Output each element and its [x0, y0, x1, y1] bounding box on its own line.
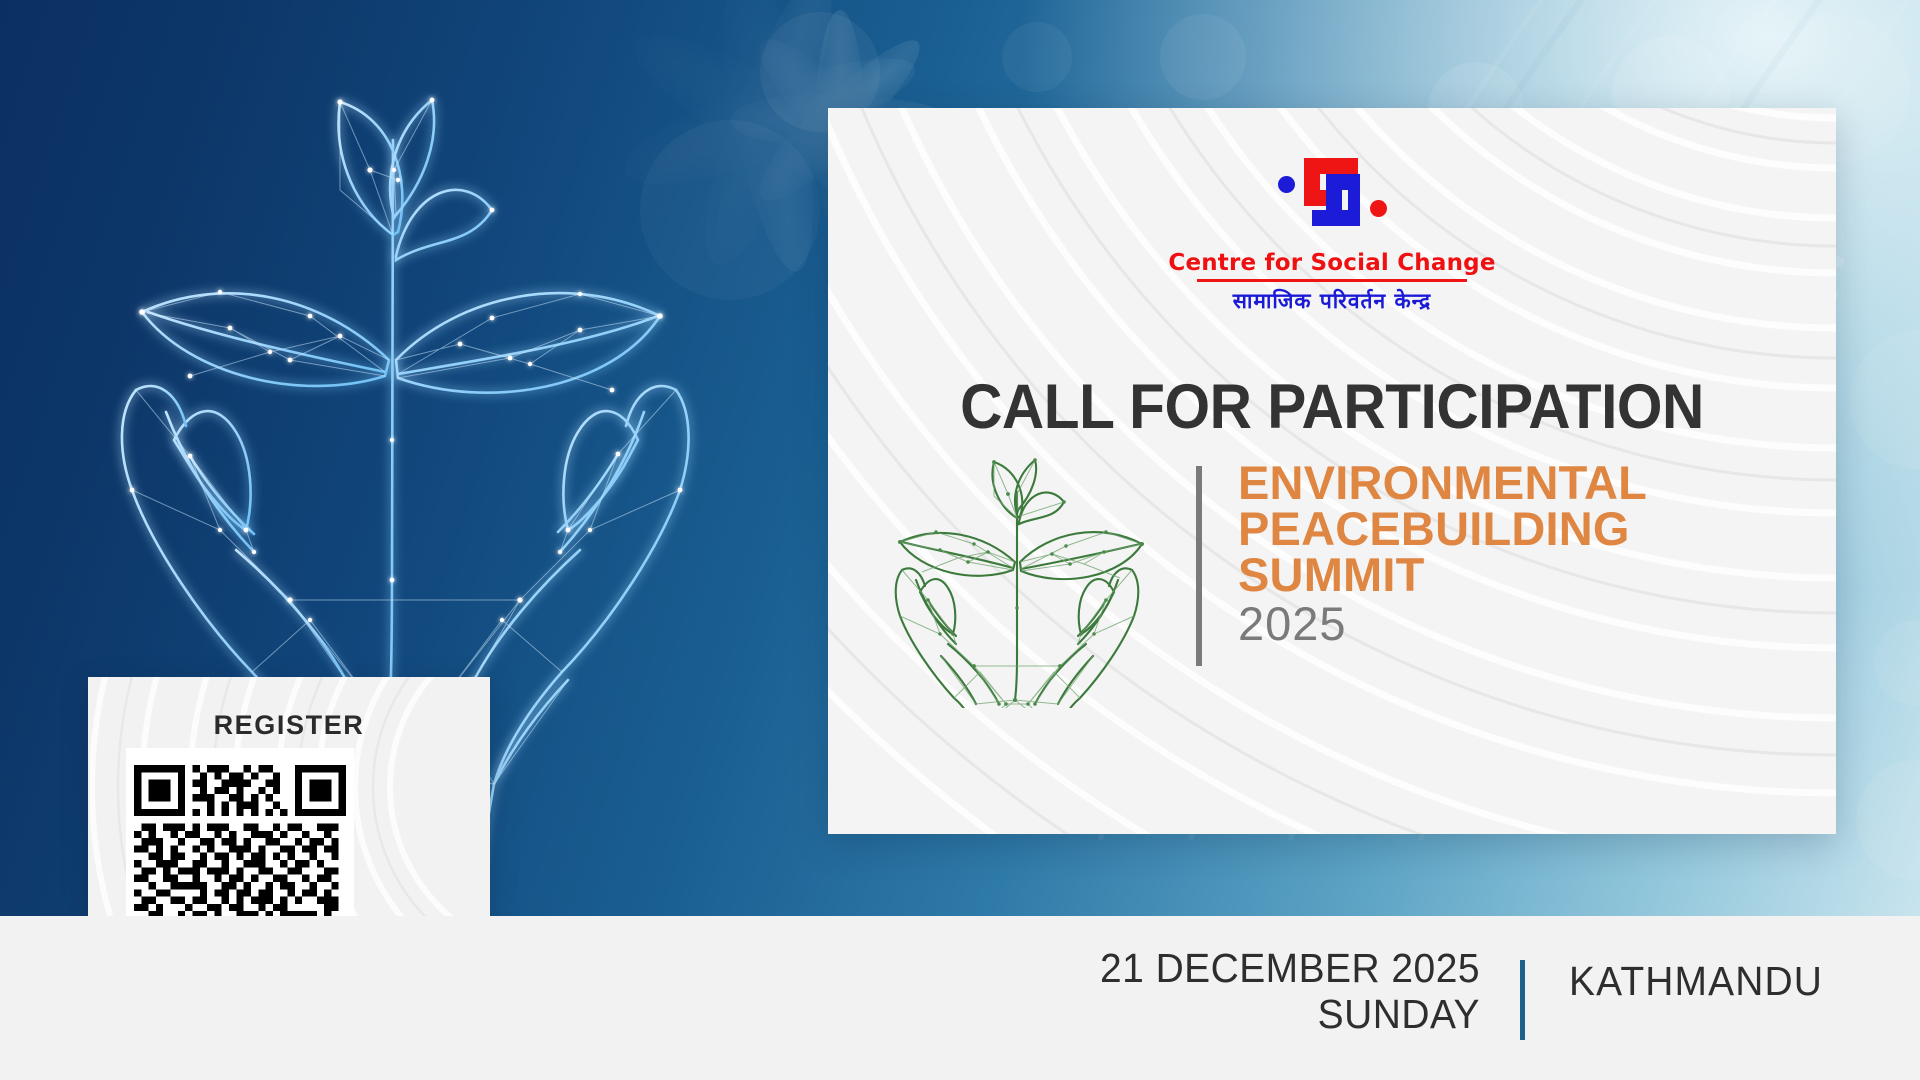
logo-org-name: Centre for Social Change — [1168, 250, 1495, 276]
hands-holding-sapling-icon — [884, 458, 1150, 708]
summit-title: ENVIRONMENTAL PEACEBUILDING SUMMIT 2025 — [1238, 460, 1647, 651]
poster-canvas: Centre for Social Change सामाजिक परिवर्त… — [0, 0, 1920, 1080]
organization-logo: Centre for Social Change सामाजिक परिवर्त… — [828, 154, 1836, 315]
summit-divider — [1196, 466, 1202, 666]
page-title: CALL FOR PARTICIPATION — [863, 376, 1800, 439]
summit-line-1: ENVIRONMENTAL — [1238, 460, 1647, 506]
summit-year: 2025 — [1238, 597, 1647, 651]
register-label: REGISTER — [88, 710, 490, 741]
main-content-card: Centre for Social Change सामाजिक परिवर्त… — [828, 108, 1836, 834]
event-details: 21 DECEMBER 2025 SUNDAY KATHMANDU — [1080, 946, 1836, 1040]
csc-monogram-icon — [1272, 154, 1392, 240]
footer-divider — [1520, 960, 1525, 1040]
event-date: 21 DECEMBER 2025 — [1100, 946, 1480, 992]
footer-bar: 21 DECEMBER 2025 SUNDAY KATHMANDU — [0, 916, 1920, 1080]
summit-line-3: SUMMIT — [1238, 552, 1647, 598]
logo-org-name-nepali: सामाजिक परिवर्तन केन्द्र — [1233, 287, 1431, 315]
summit-block: ENVIRONMENTAL PEACEBUILDING SUMMIT 2025 — [884, 460, 1784, 710]
event-date-block: 21 DECEMBER 2025 SUNDAY — [1080, 946, 1480, 1038]
registration-qr-code[interactable] — [134, 757, 346, 916]
logo-underline — [1197, 279, 1467, 282]
event-day: SUNDAY — [1100, 992, 1480, 1038]
summit-line-2: PEACEBUILDING — [1238, 506, 1647, 552]
hero-background: Centre for Social Change सामाजिक परिवर्त… — [0, 0, 1920, 916]
register-card[interactable]: REGISTER — [88, 677, 490, 916]
event-city: KATHMANDU — [1569, 958, 1823, 1005]
qr-code-frame — [126, 748, 354, 916]
